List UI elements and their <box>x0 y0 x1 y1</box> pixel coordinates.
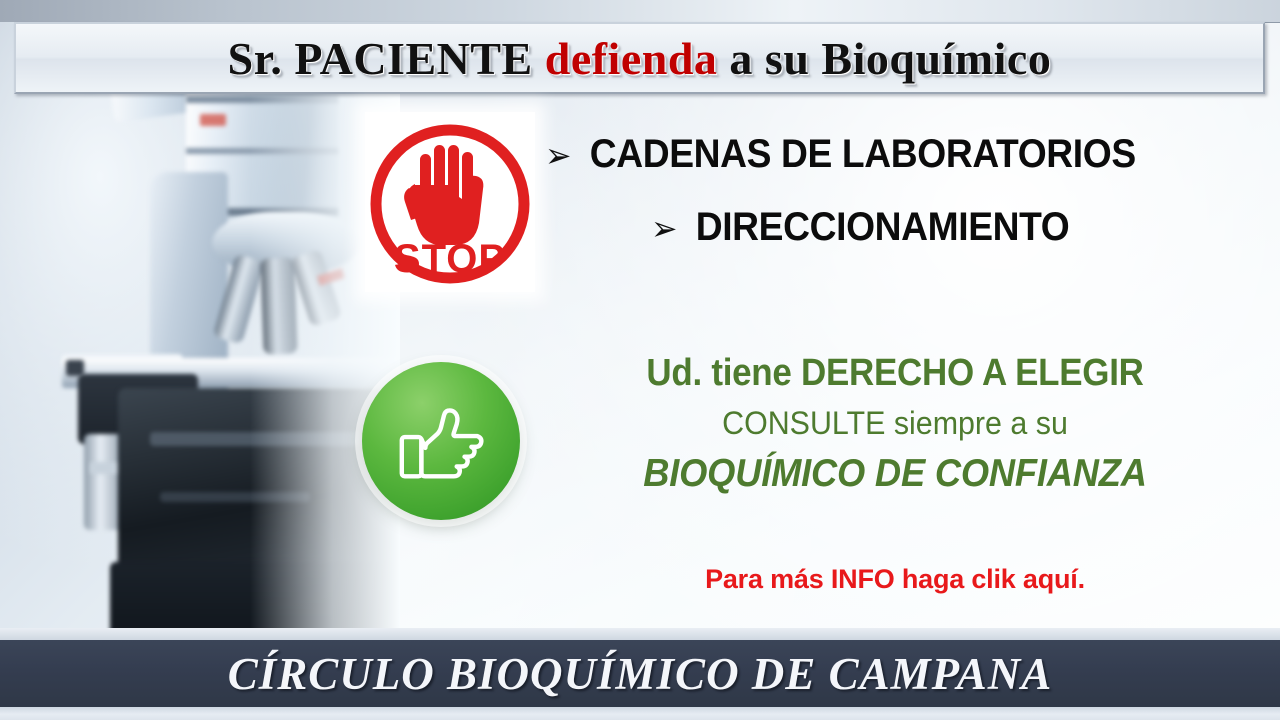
list-item: ➢ CADENAS DE LABORATORIOS <box>545 132 1196 177</box>
title-highlight: defienda <box>545 33 718 84</box>
page-title: Sr. PACIENTE defienda a su Bioquímico <box>228 32 1052 85</box>
stop-sign-graphic: STOP <box>365 112 535 292</box>
poster-root: Sr. PACIENTE defienda a su Bioquímico ST… <box>0 0 1280 720</box>
arrow-bullet-icon: ➢ <box>651 212 677 246</box>
message-block: Ud. tiene DERECHO A ELEGIR CONSULTE siem… <box>545 352 1245 496</box>
arrow-bullet-icon: ➢ <box>545 139 571 173</box>
microscope-brand-label <box>200 114 226 126</box>
stop-sign-label: STOP <box>394 237 506 281</box>
message-line-3: BIOQUÍMICO DE CONFIANZA <box>570 452 1221 496</box>
bullet-list: ➢ CADENAS DE LABORATORIOS ➢ DIRECCIONAMI… <box>545 132 1245 250</box>
bullet-label-2: DIRECCIONAMIENTO <box>696 205 1070 250</box>
message-line-2: CONSULTE siempre a su <box>563 405 1228 442</box>
title-suffix: a su Bioquímico <box>717 33 1051 84</box>
message-line-1: Ud. tiene DERECHO A ELEGIR <box>573 352 1217 395</box>
title-banner: Sr. PACIENTE defienda a su Bioquímico <box>14 22 1265 94</box>
microscope-photo <box>0 22 400 642</box>
footer-organization-name: CÍRCULO BIOQUÍMICO DE CAMPANA <box>228 648 1053 700</box>
stop-sign-icon: STOP <box>365 112 535 292</box>
thumbs-up-graphic <box>392 392 490 490</box>
title-prefix: Sr. PACIENTE <box>228 33 545 84</box>
thumbs-up-icon <box>362 362 520 520</box>
more-info-link[interactable]: Para más INFO haga clik aquí. <box>545 564 1245 595</box>
background-top-strip <box>0 0 1280 23</box>
footer-bottom-strip <box>0 707 1280 720</box>
footer-top-strip <box>0 628 1280 640</box>
list-item: ➢ DIRECCIONAMIENTO <box>651 205 1203 250</box>
footer-bar: CÍRCULO BIOQUÍMICO DE CAMPANA <box>0 640 1280 707</box>
bullet-label-1: CADENAS DE LABORATORIOS <box>590 132 1136 177</box>
